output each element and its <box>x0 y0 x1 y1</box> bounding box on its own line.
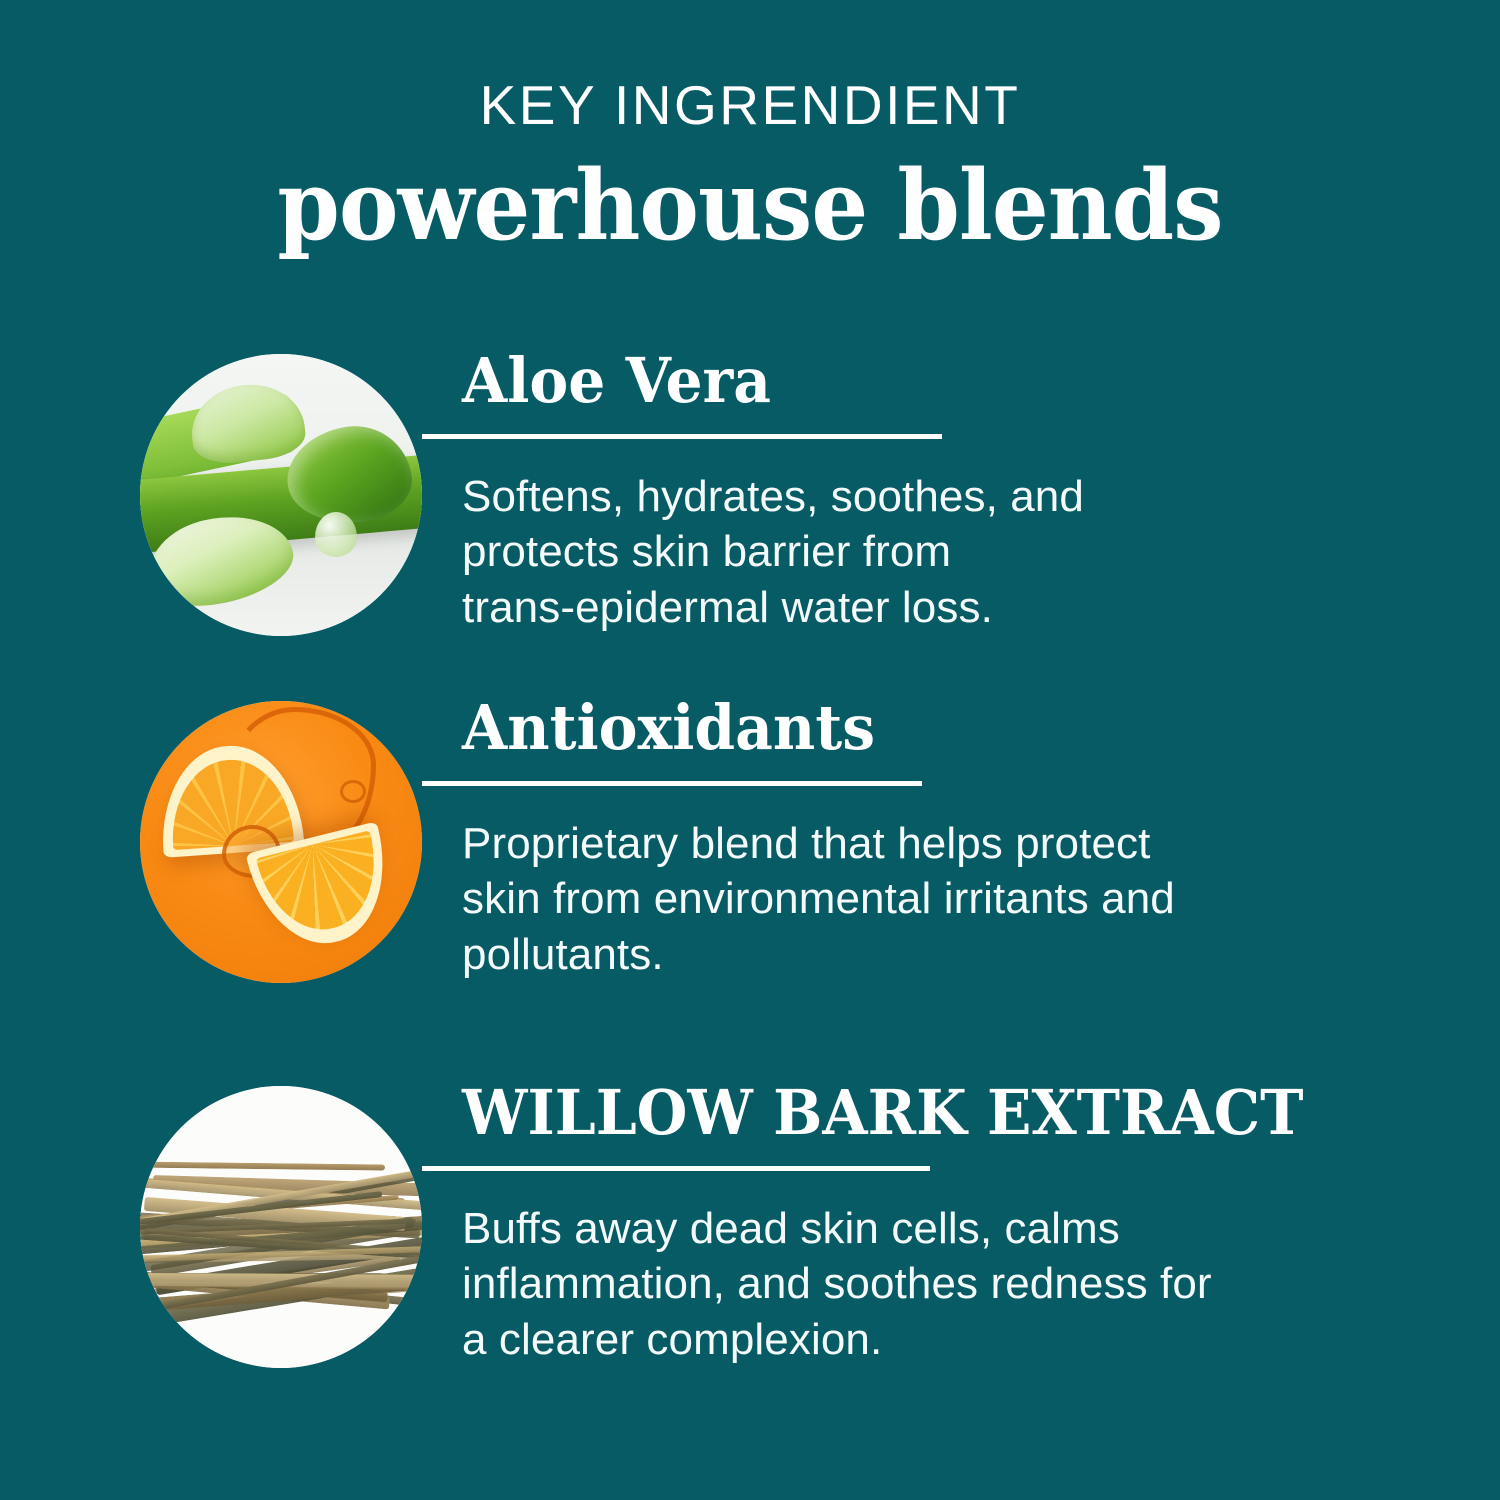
antioxidants-text-block: Antioxidants Proprietary blend that help… <box>462 697 1402 982</box>
eyebrow-label: KEY INGRENDIENT <box>0 78 1500 133</box>
page-title: powerhouse blends <box>53 157 1448 255</box>
aloe-vera-photo <box>140 354 422 636</box>
ingredient-row-antioxidants: Antioxidants Proprietary blend that help… <box>0 697 1500 997</box>
page-header: KEY INGRENDIENT powerhouse blends <box>0 0 1500 255</box>
willow-bark-text-block: WILLOW BARK EXTRACT Buffs away dead skin… <box>462 1082 1402 1367</box>
divider-rule-aloe-vera <box>422 434 942 439</box>
ingredient-row-willow-bark: WILLOW BARK EXTRACT Buffs away dead skin… <box>0 1082 1500 1382</box>
ingredient-row-aloe-vera: Aloe Vera Softens, hydrates, soothes, an… <box>0 350 1500 650</box>
willow-bark-thumbnail <box>140 1086 422 1368</box>
ingredient-title-aloe-vera: Aloe Vera <box>462 350 1346 412</box>
aloe-vera-thumbnail <box>140 354 422 636</box>
ingredient-title-antioxidants: Antioxidants <box>462 697 1346 759</box>
divider-rule-antioxidants <box>422 781 922 786</box>
ingredient-title-willow-bark: WILLOW BARK EXTRACT <box>462 1082 1346 1144</box>
ingredient-description-willow-bark: Buffs away dead skin cells, calms inflam… <box>462 1201 1402 1367</box>
willow-bark-photo <box>140 1086 422 1368</box>
divider-rule-willow-bark <box>422 1166 930 1171</box>
citrus-orange-slices-photo <box>140 701 422 983</box>
ingredient-description-aloe-vera: Softens, hydrates, soothes, and protects… <box>462 469 1402 635</box>
ingredient-description-antioxidants: Proprietary blend that helps protect ski… <box>462 816 1402 982</box>
aloe-vera-text-block: Aloe Vera Softens, hydrates, soothes, an… <box>462 350 1402 635</box>
antioxidants-thumbnail <box>140 701 422 983</box>
